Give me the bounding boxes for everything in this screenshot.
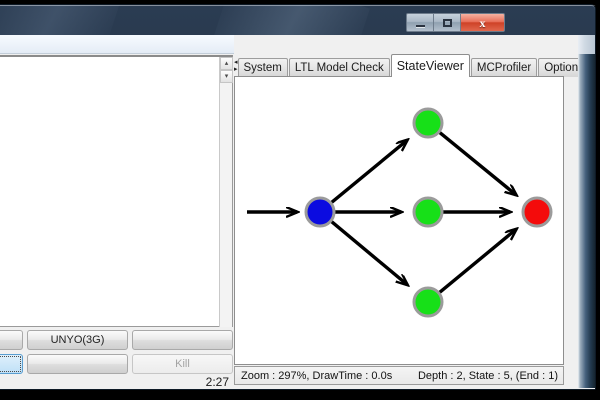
button-stateviewer[interactable]: wer: [0, 354, 23, 374]
button-row-2: wer Kill: [0, 354, 233, 374]
tab-stateviewer[interactable]: StateViewer: [391, 54, 470, 77]
maximize-button[interactable]: [434, 14, 461, 31]
source-editor[interactable]: | n(C). ▴ ▾: [0, 55, 233, 327]
titlebar-sheen-right: [212, 5, 370, 35]
menubar: elp: [0, 35, 234, 54]
scroll-down-arrow[interactable]: ▾: [220, 70, 233, 83]
button-row-1: 2G) UNYO(3G): [0, 330, 233, 350]
tab-mcprofiler[interactable]: MCProfiler: [471, 58, 537, 77]
button-unyo2g[interactable]: 2G): [0, 330, 23, 350]
state-node-s2[interactable]: [414, 198, 442, 226]
window-right-edge: [578, 54, 595, 388]
edge-s0-s3: [332, 222, 408, 285]
close-button[interactable]: x: [461, 14, 504, 31]
minimize-icon: [416, 25, 425, 27]
status-bar: Zoom : 297%, DrawTime : 0.0s Depth : 2, …: [234, 366, 564, 385]
tab-ltl-model-check[interactable]: LTL Model Check: [289, 58, 390, 77]
edge-s3-s4: [440, 229, 517, 292]
edge-layer: [247, 132, 516, 292]
state-graph-canvas[interactable]: [234, 76, 564, 365]
edge-s0-s1: [332, 140, 408, 202]
desktop-backdrop: x elp | n(C). ▴ ▾ 2G): [0, 0, 600, 400]
window-titlebar[interactable]: [0, 5, 597, 35]
close-icon: x: [480, 17, 486, 29]
status-zoom-drawtime: Zoom : 297%, DrawTime : 0.0s: [241, 370, 392, 382]
window-client-area: elp | n(C). ▴ ▾ 2G) UNYO(3G): [0, 35, 595, 389]
button-kill[interactable]: Kill: [132, 354, 233, 374]
editor-vertical-scrollbar[interactable]: ▴ ▾: [219, 57, 232, 327]
tab-system[interactable]: System: [238, 58, 288, 77]
state-node-s4[interactable]: [523, 198, 551, 226]
window-controls: x: [406, 13, 505, 32]
right-panel: ◂ ▸ System LTL Model Check StateViewer M…: [234, 54, 578, 388]
state-transition-graph: [235, 77, 564, 365]
button-row1-blank[interactable]: [132, 330, 233, 350]
maximize-icon: [443, 19, 452, 27]
clock-label: 2:27: [0, 375, 229, 389]
state-node-s1[interactable]: [414, 109, 442, 137]
status-depth-state: Depth : 2, State : 5, (End : 1): [418, 370, 558, 382]
application-window: x elp | n(C). ▴ ▾ 2G): [0, 4, 596, 390]
titlebar-sheen-left: [0, 5, 120, 35]
left-panel: | n(C). ▴ ▾ 2G) UNYO(3G) wer: [0, 54, 234, 388]
action-button-grid: 2G) UNYO(3G) wer Kill: [0, 330, 233, 378]
tab-scroll-right-icon[interactable]: ▸: [234, 66, 238, 73]
state-node-s3[interactable]: [414, 288, 442, 316]
button-row2-blank[interactable]: [27, 354, 128, 374]
window-right-edge-top: [578, 35, 595, 54]
tab-scroll-buttons[interactable]: ◂ ▸: [234, 55, 238, 77]
edge-s1-s4: [440, 132, 516, 194]
tab-scroll-left-icon[interactable]: ◂: [234, 59, 238, 66]
scroll-up-arrow[interactable]: ▴: [220, 57, 233, 70]
tab-strip: ◂ ▸ System LTL Model Check StateViewer M…: [234, 54, 578, 77]
minimize-button[interactable]: [407, 14, 434, 31]
state-node-s0[interactable]: [306, 198, 334, 226]
button-unyo3g[interactable]: UNYO(3G): [27, 330, 128, 350]
